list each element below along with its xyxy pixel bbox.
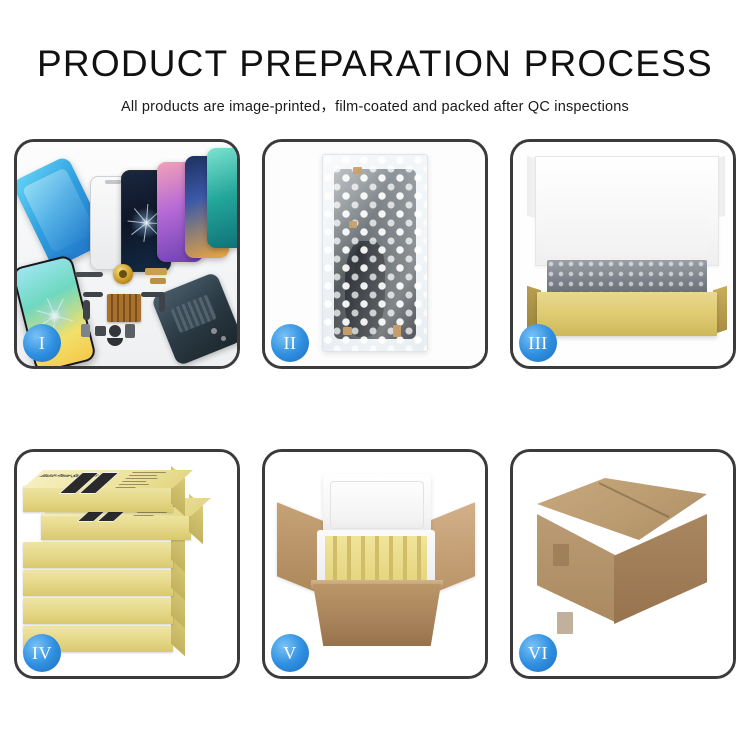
step-badge-1: I (23, 324, 61, 362)
retail-box-top: Mobile Phone Spare Parts (41, 514, 191, 540)
step-2-image: II (265, 142, 485, 366)
tape-piece (343, 327, 352, 335)
flex-cable-component (159, 294, 165, 312)
page-title: PRODUCT PREPARATION PROCESS (0, 0, 750, 86)
step-numeral: IV (32, 643, 52, 664)
step-badge-2: II (271, 324, 309, 362)
process-step-4: Mobile Phone Spare Parts Mobil (14, 449, 240, 679)
camera-component (109, 325, 121, 337)
step-4-image: Mobile Phone Spare Parts Mobil (17, 452, 237, 676)
step-numeral: VI (528, 643, 548, 664)
step-numeral: V (283, 643, 297, 664)
process-step-5: V (262, 449, 488, 679)
tape-piece (393, 325, 401, 337)
foam-lid (323, 474, 431, 536)
step-3-image: III (513, 142, 733, 366)
box-lid-printed: Mobile Phone Spare Parts (23, 470, 193, 488)
retail-box-stack: Mobile Phone Spare Parts Mobil (23, 476, 229, 662)
process-steps-grid: I II (14, 139, 736, 679)
earpiece-component (75, 272, 103, 277)
bracket-component (145, 268, 167, 275)
step-badge-5: V (271, 634, 309, 672)
process-step-3: III (510, 139, 736, 369)
bubble-wrap-package (322, 154, 428, 352)
step-numeral: III (528, 333, 547, 354)
carton-tape-patch (557, 612, 573, 634)
carton-tape-patch (553, 544, 569, 566)
screw-component (221, 336, 226, 341)
box-spec-lines (113, 472, 175, 490)
screw-component (211, 328, 217, 334)
product-preparation-process-infographic: PRODUCT PREPARATION PROCESS All products… (0, 0, 750, 750)
tape-piece (353, 167, 362, 174)
retail-box (23, 542, 173, 568)
bracket-component (150, 278, 166, 284)
process-step-1: I (14, 139, 240, 369)
foam-sheet (543, 178, 709, 256)
carton-body (313, 584, 441, 646)
header: PRODUCT PREPARATION PROCESS All products… (0, 0, 750, 118)
tape-piece (349, 221, 357, 228)
plastic-sheen (323, 155, 427, 351)
packed-retail-boxes (325, 536, 427, 584)
step-badge-3: III (519, 324, 557, 362)
retail-box-top: Mobile Phone Spare Parts (23, 486, 173, 512)
teal-phone-photo (207, 148, 237, 248)
step-5-image: V (265, 452, 485, 676)
small-part (95, 326, 106, 336)
step-badge-4: IV (23, 634, 61, 672)
step-numeral: II (284, 333, 297, 354)
speaker-component (113, 264, 133, 284)
step-6-image: VI (513, 452, 733, 676)
process-step-6: VI (510, 449, 736, 679)
small-part (125, 324, 135, 338)
sim-tray-component (81, 324, 90, 337)
kraft-box-front (537, 292, 717, 336)
step-badge-6: VI (519, 634, 557, 672)
flex-cable-component (83, 300, 90, 320)
step-1-image: I (17, 142, 237, 366)
retail-box (23, 570, 173, 596)
connector-board-component (107, 294, 141, 322)
page-subtitle: All products are image-printed，film-coat… (0, 86, 750, 118)
step-numeral: I (39, 333, 46, 354)
bubble-wrapped-contents (547, 260, 707, 296)
process-step-2: II (262, 139, 488, 369)
flex-cable-component (83, 292, 103, 297)
retail-box (23, 598, 173, 624)
